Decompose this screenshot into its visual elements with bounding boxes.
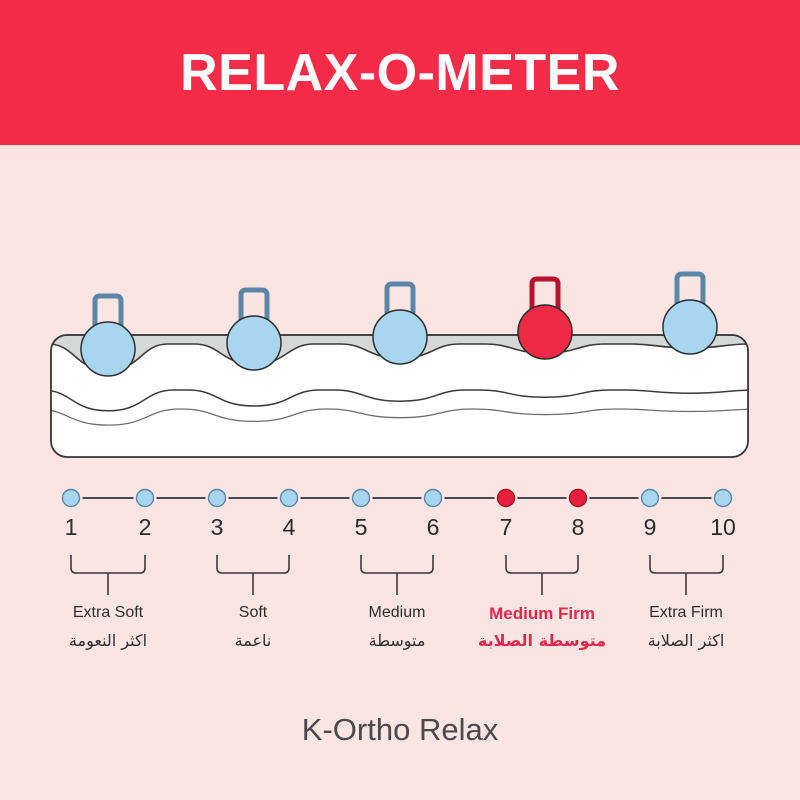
scale-dot-8[interactable]: [570, 490, 587, 507]
scale-number-3: 3: [211, 514, 224, 541]
group-label-ar-5: اكثر الصلابة: [648, 631, 725, 650]
header-bar: RELAX-O-METER: [0, 0, 800, 145]
group-bracket-3: [361, 555, 433, 595]
weight-soft: [227, 290, 281, 370]
scale-number-4: 4: [283, 514, 296, 541]
group-label-ar-1: اكثر النعومة: [69, 631, 147, 650]
group-label-en-4: Medium Firm: [489, 604, 595, 624]
group-label-en-5: Extra Firm: [649, 604, 723, 622]
group-bracket-5: [650, 555, 723, 595]
scale-svg: [0, 483, 800, 713]
scale-dot-1[interactable]: [63, 490, 80, 507]
group-label-en-1: Extra Soft: [73, 604, 143, 622]
scale-dot-7[interactable]: [498, 490, 515, 507]
product-name: K-Ortho Relax: [0, 712, 800, 748]
scale-number-7: 7: [500, 514, 513, 541]
group-label-en-3: Medium: [369, 604, 426, 622]
scale-dot-9[interactable]: [642, 490, 659, 507]
scale-dot-4[interactable]: [281, 490, 298, 507]
group-bracket-2: [217, 555, 289, 595]
group-bracket-4: [506, 555, 578, 595]
group-bracket-1: [71, 555, 145, 595]
kettlebell-ball-icon: [81, 322, 135, 376]
weight-extra-soft: [81, 296, 135, 376]
weight-medium: [373, 284, 427, 364]
scale-dot-10[interactable]: [715, 490, 732, 507]
scale-number-8: 8: [572, 514, 585, 541]
group-label-ar-2: ناعمة: [235, 631, 272, 650]
scale-number-10: 10: [710, 514, 736, 541]
scale-dot-5[interactable]: [353, 490, 370, 507]
firmness-scale: 12345678910Extra Softاكثر النعومةSoftناع…: [0, 483, 800, 713]
scale-number-6: 6: [427, 514, 440, 541]
scale-number-1: 1: [65, 514, 78, 541]
mattress-svg: [0, 145, 800, 485]
kettlebell-ball-icon: [663, 300, 717, 354]
scale-number-5: 5: [355, 514, 368, 541]
group-label-ar-4: متوسطة الصلابة: [478, 631, 606, 650]
scale-dot-3[interactable]: [209, 490, 226, 507]
weight-extra-firm: [663, 274, 717, 354]
group-label-en-2: Soft: [239, 604, 267, 622]
group-label-ar-3: متوسطة: [369, 631, 426, 650]
scale-dot-6[interactable]: [425, 490, 442, 507]
scale-number-2: 2: [139, 514, 152, 541]
scale-dot-2[interactable]: [137, 490, 154, 507]
scale-number-9: 9: [644, 514, 657, 541]
page-title: RELAX-O-METER: [180, 47, 620, 99]
kettlebell-ball-icon: [518, 305, 572, 359]
weight-medium-firm: [518, 279, 572, 359]
kettlebell-ball-icon: [373, 310, 427, 364]
kettlebell-ball-icon: [227, 316, 281, 370]
mattress-illustration: [0, 145, 800, 485]
group-brackets: [71, 555, 723, 595]
